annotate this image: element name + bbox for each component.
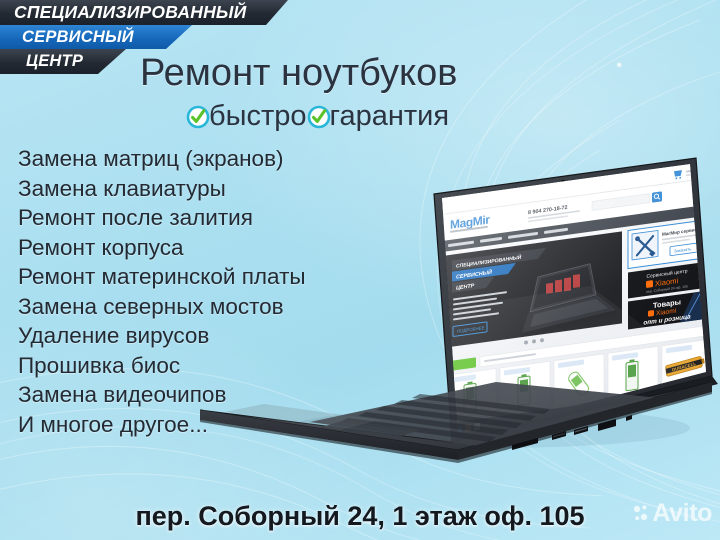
address-text: пер. Соборный 24, 1 этаж оф. 105 xyxy=(0,501,720,532)
ribbon-line-center: ЦЕНТР xyxy=(0,49,152,74)
list-item: Ремонт материнской платы xyxy=(18,262,306,292)
check-circle-icon xyxy=(186,105,210,129)
avito-watermark-label: Avito xyxy=(652,499,712,528)
list-item: Замена матриц (экранов) xyxy=(18,144,306,174)
list-item: Удаление вирусов xyxy=(18,321,306,351)
avito-watermark: Avito xyxy=(633,499,712,528)
headline-badges: быстро гарантия xyxy=(186,100,449,133)
badge-label-fast: быстро xyxy=(209,100,307,133)
badge-label-warranty: гарантия xyxy=(330,100,450,133)
avito-dots-icon xyxy=(633,504,648,523)
ribbon-line-service: СЕРВИСНЫЙ xyxy=(0,25,214,49)
list-item: Замена видеочипов xyxy=(18,380,306,410)
advertisement-banner: СПЕЦИАЛИЗИРОВАННЫЙ СЕРВИСНЫЙ ЦЕНТР Ремон… xyxy=(0,0,720,540)
list-item: Замена клавиатуры xyxy=(18,174,306,204)
list-item: Замена северных мостов xyxy=(18,292,306,322)
list-item: Ремонт корпуса xyxy=(18,233,306,263)
check-circle-icon xyxy=(307,105,331,129)
list-item: Прошивка биос xyxy=(18,351,306,381)
service-center-ribbon-group: СПЕЦИАЛИЗИРОВАННЫЙ СЕРВИСНЫЙ ЦЕНТР xyxy=(0,0,302,74)
list-item: Ремонт после залития xyxy=(18,203,306,233)
list-item: И многое другое... xyxy=(18,410,306,440)
services-list: Замена матриц (экранов) Замена клавиатур… xyxy=(18,144,306,439)
ribbon-line-specialized: СПЕЦИАЛИЗИРОВАННЫЙ xyxy=(0,0,302,25)
